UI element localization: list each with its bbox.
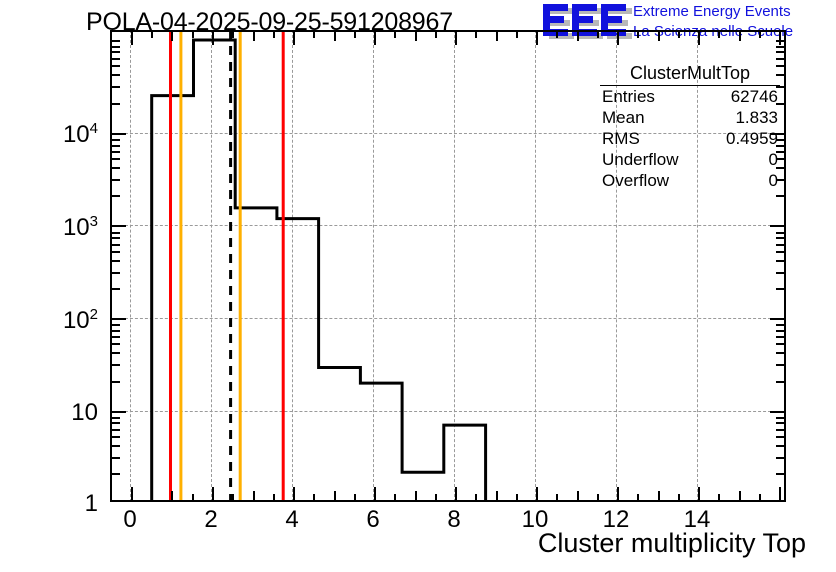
stats-row-entries: Entries 62746	[600, 86, 780, 107]
y-ticklabel-1e4: 104	[40, 120, 98, 149]
eee-tagline-1: Extreme Energy Events	[633, 2, 793, 22]
stats-value-mean: 1.833	[735, 107, 778, 128]
y-ticklabel-10: 10	[40, 399, 98, 427]
stats-value-overflow: 0	[769, 170, 778, 191]
stats-box: ClusterMultTop Entries 62746 Mean 1.833 …	[600, 63, 780, 191]
x-axis-title: Cluster multiplicity Top	[538, 528, 806, 559]
stats-key-underflow: Underflow	[602, 149, 679, 170]
stats-key-overflow: Overflow	[602, 170, 669, 191]
stats-row-overflow: Overflow 0	[600, 170, 780, 191]
x-ticklabel-2: 2	[181, 506, 241, 534]
y-ticklabel-1e3: 103	[40, 213, 98, 242]
stats-key-rms: RMS	[602, 128, 640, 149]
x-ticklabel-0: 0	[100, 506, 160, 534]
stats-title: ClusterMultTop	[600, 63, 780, 86]
stats-key-entries: Entries	[602, 86, 655, 107]
stats-value-rms: 0.4959	[726, 128, 778, 149]
stats-value-underflow: 0	[769, 149, 778, 170]
y-ticklabel-1: 1	[40, 490, 98, 518]
stats-value-entries: 62746	[731, 86, 778, 107]
stats-row-rms: RMS 0.4959	[600, 128, 780, 149]
stats-row-underflow: Underflow 0	[600, 149, 780, 170]
stats-row-mean: Mean 1.833	[600, 107, 780, 128]
x-ticklabel-8: 8	[424, 506, 484, 534]
x-ticklabel-6: 6	[343, 506, 403, 534]
plot-canvas: POLA-04-2025-09-25-591208967 Extreme Ene…	[0, 0, 836, 572]
x-ticklabel-4: 4	[262, 506, 322, 534]
stats-key-mean: Mean	[602, 107, 645, 128]
y-ticklabel-1e2: 102	[40, 306, 98, 335]
